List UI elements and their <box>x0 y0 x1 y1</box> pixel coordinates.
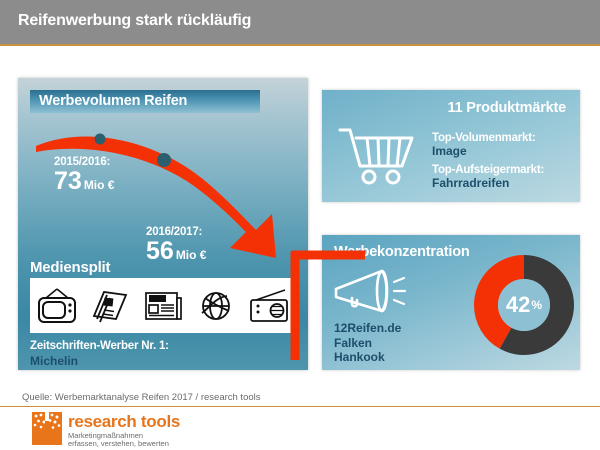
source-line: Quelle: Werbemarktanalyse Reifen 2017 / … <box>22 392 261 403</box>
value-2016-2017-unit: Mio € <box>176 248 207 262</box>
fact-top-aufsteigermarkt-label: Top-Aufsteigermarkt: <box>432 164 544 176</box>
shopping-cart-icon <box>336 120 420 192</box>
data-point-2016 <box>157 153 171 167</box>
fact-top-aufsteigermarkt-value: Fahrradreifen <box>432 176 544 190</box>
zeitschriften-werber-label: Zeitschriften-Werber Nr. 1: <box>30 340 169 352</box>
research-tools-brand-name: research tools <box>68 412 180 432</box>
produktmaerkte-title: 11 Produktmärkte <box>448 100 567 116</box>
data-point-2015 <box>95 134 106 145</box>
infographic-canvas: Werbevolumen Reifen 2015/2016: 73Mio € 2… <box>0 50 600 386</box>
donut-hole <box>498 279 550 331</box>
header-bar: Reifenwerbung stark rückläufig <box>0 0 600 46</box>
fact-top-volumenmarkt: Top-Volumenmarkt: Image <box>432 132 536 158</box>
globe-icon <box>194 286 238 326</box>
werbekonzentration-donut-chart: 42% <box>472 253 576 357</box>
magazine-icon <box>88 286 132 326</box>
mediensplit-section-header: Mediensplit <box>30 256 165 279</box>
fact-top-volumenmarkt-value: Image <box>432 144 536 158</box>
value-2015-2016-amount: 73Mio € <box>54 168 114 194</box>
tv-icon <box>35 286 79 326</box>
page-title: Reifenwerbung stark rückläufig <box>18 12 251 30</box>
value-2015-2016-number: 73 <box>54 167 82 195</box>
red-connector-bracket <box>255 195 365 360</box>
newspaper-icon <box>141 286 185 326</box>
brand-tagline-line2: erfassen, verstehen, bewerten <box>68 439 169 448</box>
footer-divider <box>0 406 600 407</box>
research-tools-logo-icon <box>32 412 62 445</box>
value-2015-2016: 2015/2016: 73Mio € <box>54 156 114 194</box>
fact-top-volumenmarkt-label: Top-Volumenmarkt: <box>432 132 536 144</box>
value-2015-2016-unit: Mio € <box>84 178 115 192</box>
zeitschriften-werber-value: Michelin <box>30 354 78 368</box>
produktmaerkte-panel: 11 Produktmärkte Top-Volumenmarkt: Image… <box>322 90 580 202</box>
fact-top-aufsteigermarkt: Top-Aufsteigermarkt: Fahrradreifen <box>432 164 544 190</box>
